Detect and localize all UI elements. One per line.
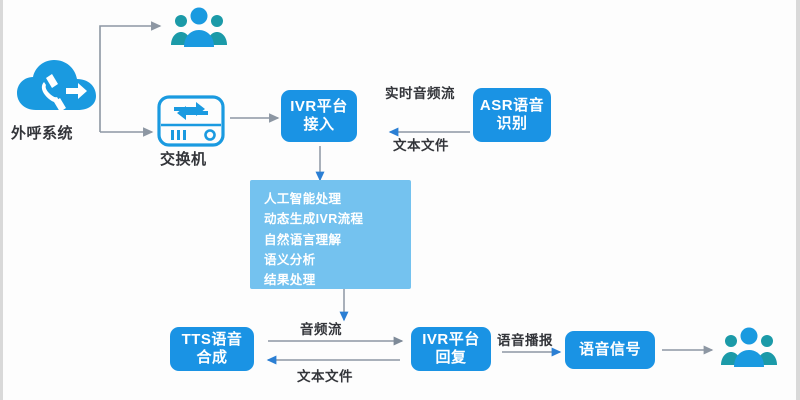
node-asr[interactable]: ASR语音 识别 — [473, 88, 551, 142]
ai-line-4: 语义分析 — [264, 250, 411, 270]
cloud-phone-icon — [14, 58, 102, 122]
node-voice-signal-label: 语音信号 — [579, 341, 641, 359]
edge-label-text-file-bottom: 文本文件 — [297, 365, 353, 385]
connector-cloud-to-agents — [100, 26, 160, 132]
icon-label-outbound-system: 外呼系统 — [11, 122, 73, 143]
users-group-icon-customers — [718, 326, 780, 370]
node-tts[interactable]: TTS语音 合成 — [170, 327, 254, 371]
network-switch-icon — [156, 94, 226, 148]
node-tts-label: TTS语音 合成 — [182, 331, 243, 366]
ai-line-3: 自然语言理解 — [264, 230, 411, 250]
ai-line-2: 动态生成IVR流程 — [264, 209, 411, 229]
node-ivr-reply[interactable]: IVR平台 回复 — [411, 327, 491, 371]
users-group-icon-agents — [168, 6, 230, 50]
node-ivr-reply-label: IVR平台 回复 — [422, 331, 480, 366]
node-asr-label: ASR语音 识别 — [480, 97, 544, 132]
icon-label-switch: 交换机 — [160, 148, 207, 169]
edge-label-text-file-top: 文本文件 — [393, 134, 449, 154]
node-voice-signal[interactable]: 语音信号 — [565, 331, 655, 369]
diagram-canvas: 外呼系统 交换机 — [0, 0, 800, 400]
edge-label-voice-broadcast: 语音播报 — [497, 329, 553, 349]
edge-label-audio-stream: 音频流 — [300, 318, 342, 338]
node-ivr-access-label: IVR平台 接入 — [290, 98, 348, 133]
edge-label-realtime-audio-stream: 实时音频流 — [385, 82, 455, 102]
ai-line-1: 人工智能处理 — [264, 189, 411, 209]
node-ivr-access[interactable]: IVR平台 接入 — [281, 90, 357, 142]
ai-line-5: 结果处理 — [264, 270, 411, 290]
ai-processing-box: 人工智能处理 动态生成IVR流程 自然语言理解 语义分析 结果处理 — [250, 180, 411, 289]
